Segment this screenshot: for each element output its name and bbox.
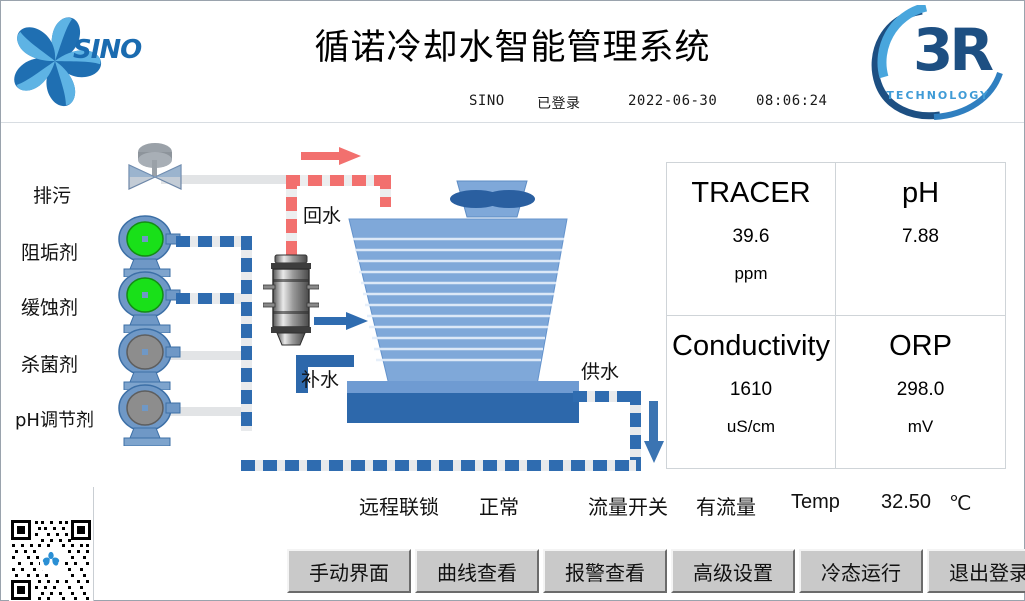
pipe-dose-riser: [241, 236, 252, 431]
interlock-value: 正常: [479, 491, 519, 520]
analyzer-vessel-icon[interactable]: [263, 253, 319, 349]
measurement-panel: TRACER 39.6 ppm pH 7.88 Conductivity 161…: [666, 162, 1006, 469]
qr-center-logo-icon: [40, 549, 62, 571]
readout-orp-unit: mV: [908, 417, 934, 437]
advanced-settings-button[interactable]: 高级设置: [671, 549, 795, 593]
readout-tracer-unit: ppm: [734, 264, 767, 284]
interlock-label: 远程联锁: [359, 491, 439, 520]
button-bar: 手动界面 曲线查看 报警查看 高级设置 冷态运行 退出登录: [287, 549, 1025, 593]
readout-tracer: TRACER 39.6 ppm: [667, 163, 836, 316]
pipe-supply-right: [630, 391, 641, 471]
readout-conductivity: Conductivity 1610 uS/cm: [667, 316, 836, 469]
temperature-label: Temp: [791, 491, 840, 514]
supply-flow-arrow-icon: [643, 401, 665, 465]
readout-ph: pH 7.88: [836, 163, 1005, 316]
pipe-dose-1: [176, 236, 241, 247]
process-diagram: 排污 阻垢剂 缓蚀剂 杀菌剂 pH调节剂: [1, 123, 661, 483]
3r-logo-wordmark: 3R: [913, 21, 990, 79]
login-status: 已登录: [537, 93, 581, 113]
login-user: SINO: [469, 93, 505, 109]
pipe-dose-2: [176, 293, 241, 304]
application-window: SINO 循诺冷却水智能管理系统 SINO 已登录 2022-06-30 08:…: [0, 0, 1025, 601]
logout-button[interactable]: 退出登录: [927, 549, 1025, 593]
qr-code[interactable]: [9, 518, 93, 601]
flowswitch-label: 流量开关: [588, 491, 668, 520]
left-panel-divider: [93, 487, 94, 601]
label-blowdown: 排污: [33, 181, 71, 208]
status-bar: 远程联锁 正常 流量开关 有流量 Temp 32.50 ℃: [1, 491, 1024, 527]
readout-conductivity-unit: uS/cm: [727, 417, 775, 437]
pump-biocide[interactable]: [114, 328, 182, 390]
readout-orp-value: 298.0: [897, 379, 945, 401]
flowswitch-value: 有流量: [696, 491, 756, 520]
readout-tracer-value: 39.6: [733, 226, 770, 248]
manual-interface-button[interactable]: 手动界面: [287, 549, 411, 593]
3r-logo-tagline: TECHNOLOGY: [886, 89, 990, 102]
label-return-water: 回水: [303, 201, 341, 228]
label-corrosion-inhibitor: 缓蚀剂: [21, 293, 78, 320]
label-biocide: 杀菌剂: [21, 350, 78, 377]
temperature-value: 32.50: [881, 491, 931, 514]
label-supply-water: 供水: [581, 357, 619, 384]
readout-conductivity-value: 1610: [730, 379, 772, 401]
readout-conductivity-name: Conductivity: [672, 330, 830, 363]
system-date: 2022-06-30: [628, 93, 717, 109]
temperature-unit: ℃: [949, 491, 971, 516]
label-ph-adjuster: pH调节剂: [15, 406, 94, 432]
cooling-tower-icon: [339, 163, 589, 423]
pipe-loop-bottom: [241, 460, 636, 471]
curve-view-button[interactable]: 曲线查看: [415, 549, 539, 593]
alarm-view-button[interactable]: 报警查看: [543, 549, 667, 593]
cold-run-button[interactable]: 冷态运行: [799, 549, 923, 593]
pump-ph-adjuster[interactable]: [114, 384, 182, 446]
label-makeup-water: 补水: [301, 365, 339, 392]
header-bar: SINO 循诺冷却水智能管理系统 SINO 已登录 2022-06-30 08:…: [1, 1, 1024, 123]
label-scale-inhibitor: 阻垢剂: [21, 238, 78, 265]
pump-scale-inhibitor[interactable]: [114, 215, 182, 277]
readout-tracer-name: TRACER: [691, 177, 810, 210]
readout-orp-name: ORP: [889, 330, 952, 363]
readout-orp: ORP 298.0 mV: [836, 316, 1005, 469]
readout-ph-value: 7.88: [902, 226, 939, 248]
readout-ph-name: pH: [902, 177, 939, 210]
blowdown-valve-icon[interactable]: [119, 143, 191, 191]
system-time: 08:06:24: [756, 93, 827, 109]
pump-corrosion-inhibitor[interactable]: [114, 271, 182, 333]
